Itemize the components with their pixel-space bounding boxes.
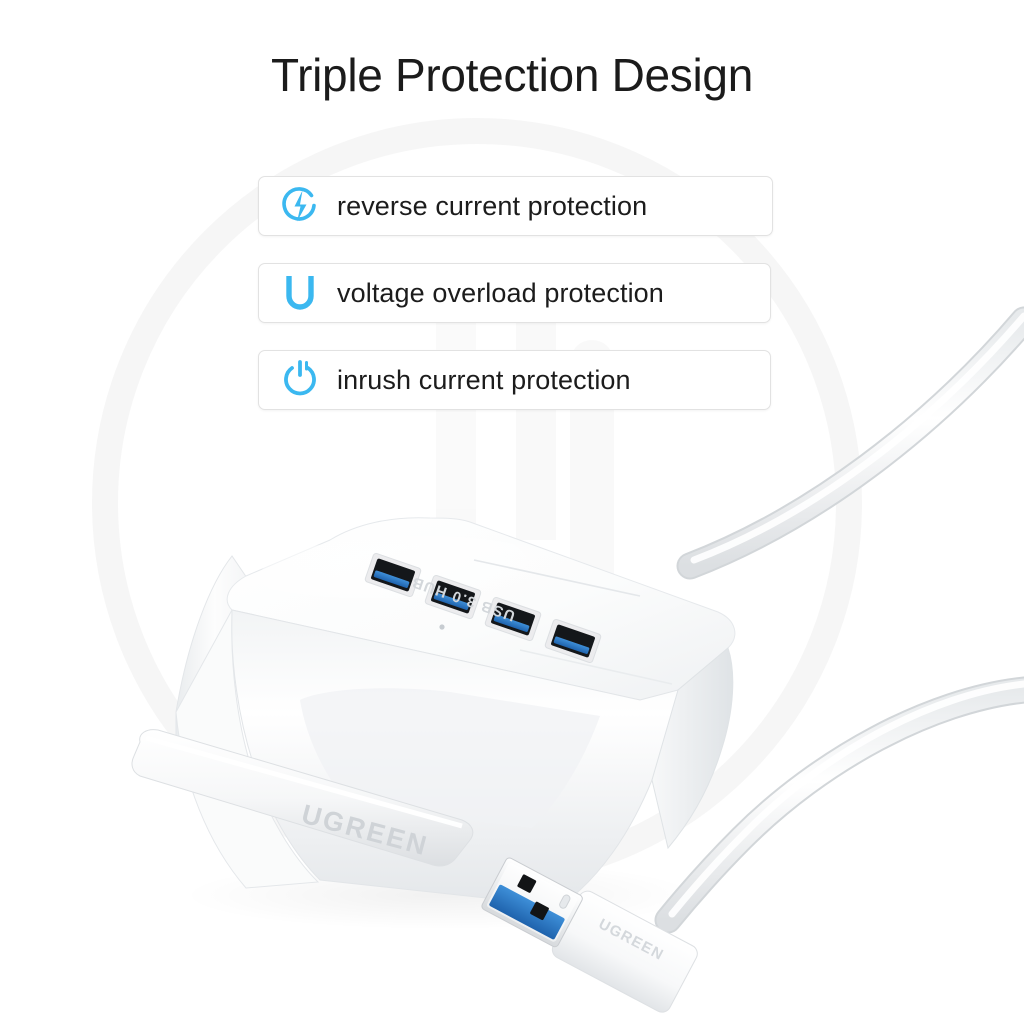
power-inrush-icon (277, 357, 323, 403)
hub-cable-front (668, 684, 1024, 920)
usb-port-4 (544, 619, 601, 664)
usb-port-2 (424, 575, 481, 620)
ugreen-logo-emboss: UGREEN (298, 799, 431, 862)
feature-badge-reverse-current[interactable]: reverse current protection (258, 176, 773, 236)
connector-ugreen-logo: UGREEN (596, 915, 667, 964)
usb-port-3 (484, 597, 541, 642)
page-title: Triple Protection Design (0, 48, 1024, 102)
usb-port-1 (364, 553, 421, 598)
feature-badge-list: reverse current protection voltage overl… (258, 176, 773, 437)
feature-label: voltage overload protection (337, 278, 664, 309)
usb-port-row (364, 553, 601, 664)
voltage-u-icon (277, 270, 323, 316)
feature-label: inrush current protection (337, 365, 631, 396)
product-floor-shadow (180, 860, 700, 930)
reverse-current-bolt-icon (277, 183, 323, 229)
led-indicator (439, 624, 444, 629)
feature-label: reverse current protection (337, 191, 647, 222)
feature-badge-inrush-current[interactable]: inrush current protection (258, 350, 771, 410)
feature-badge-voltage-overload[interactable]: voltage overload protection (258, 263, 771, 323)
product-marketing-image: Triple Protection Design reverse current… (0, 0, 1024, 1024)
usb-hub-body: UGREEN (132, 518, 735, 906)
usb-hub-label-emboss: USB 3.0 HUB (409, 573, 517, 624)
